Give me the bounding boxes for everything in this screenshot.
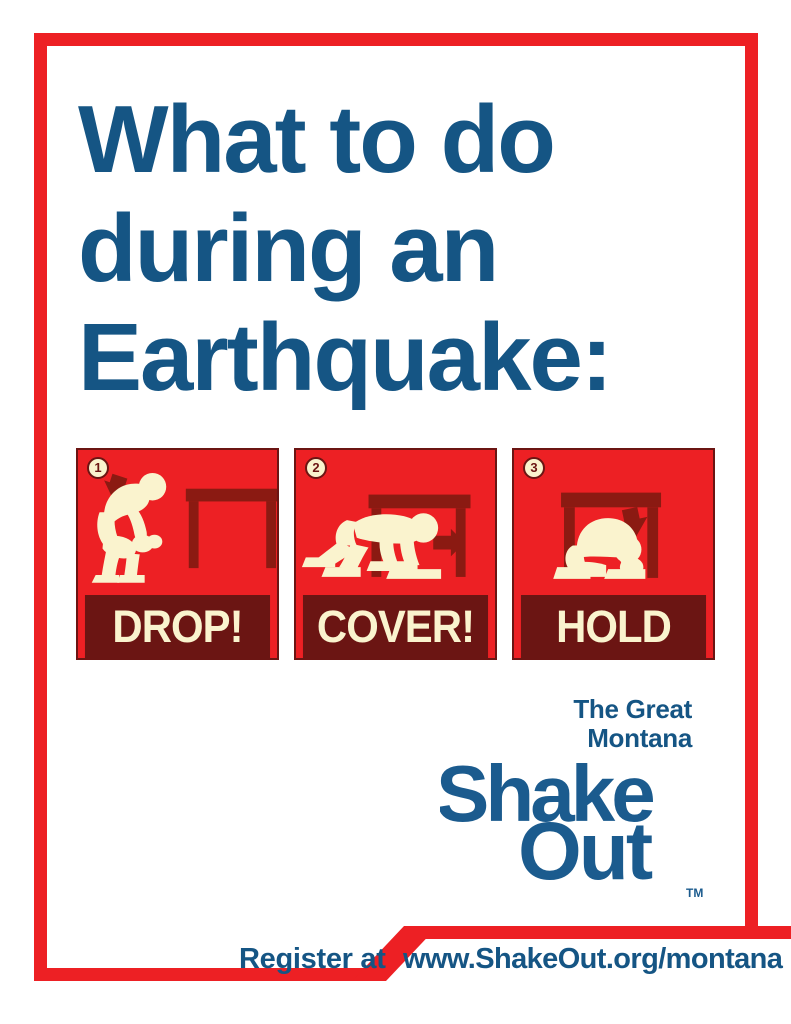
panel-drop: 1	[76, 448, 279, 660]
frame-border-top	[34, 33, 758, 46]
headline-line-2: during an	[78, 194, 718, 303]
frame-border-left	[34, 33, 47, 981]
panel-cover: 2	[294, 448, 497, 660]
logo-tagline-line-2: Montana	[440, 724, 692, 753]
panel-number-badge-3: 3	[523, 457, 545, 479]
register-label: Register at	[239, 943, 386, 976]
logo-word-out: Out	[518, 806, 653, 897]
trademark-symbol: TM	[686, 886, 703, 900]
frame-border-right	[745, 33, 758, 926]
panel-hold-on: 3	[512, 448, 715, 660]
logo-wordmark: Shake Out TM	[440, 755, 720, 905]
drop-cover-hold-on-panels: 1	[76, 448, 716, 660]
logo-tagline: The Great Montana	[440, 695, 720, 753]
headline-line-3: Earthquake:	[78, 303, 718, 412]
earthquake-safety-poster: What to do during an Earthquake: 1	[0, 0, 791, 1024]
panel-number-badge-2: 2	[305, 457, 327, 479]
logo-tagline-line-1: The Great	[440, 695, 692, 724]
frame-border-bottom-right	[421, 926, 791, 939]
panel-caption-hold-on: HOLD ON!	[521, 595, 706, 658]
great-montana-shakeout-logo: The Great Montana Shake Out TM	[440, 695, 720, 910]
panel-caption-cover: COVER!	[303, 595, 488, 658]
panel-caption-drop: DROP!	[85, 595, 270, 658]
panel-number-badge-1: 1	[87, 457, 109, 479]
shakeout-url-link[interactable]: www.ShakeOut.org/montana	[403, 943, 782, 976]
headline-line-1: What to do	[78, 85, 718, 194]
page-title: What to do during an Earthquake:	[78, 85, 718, 412]
